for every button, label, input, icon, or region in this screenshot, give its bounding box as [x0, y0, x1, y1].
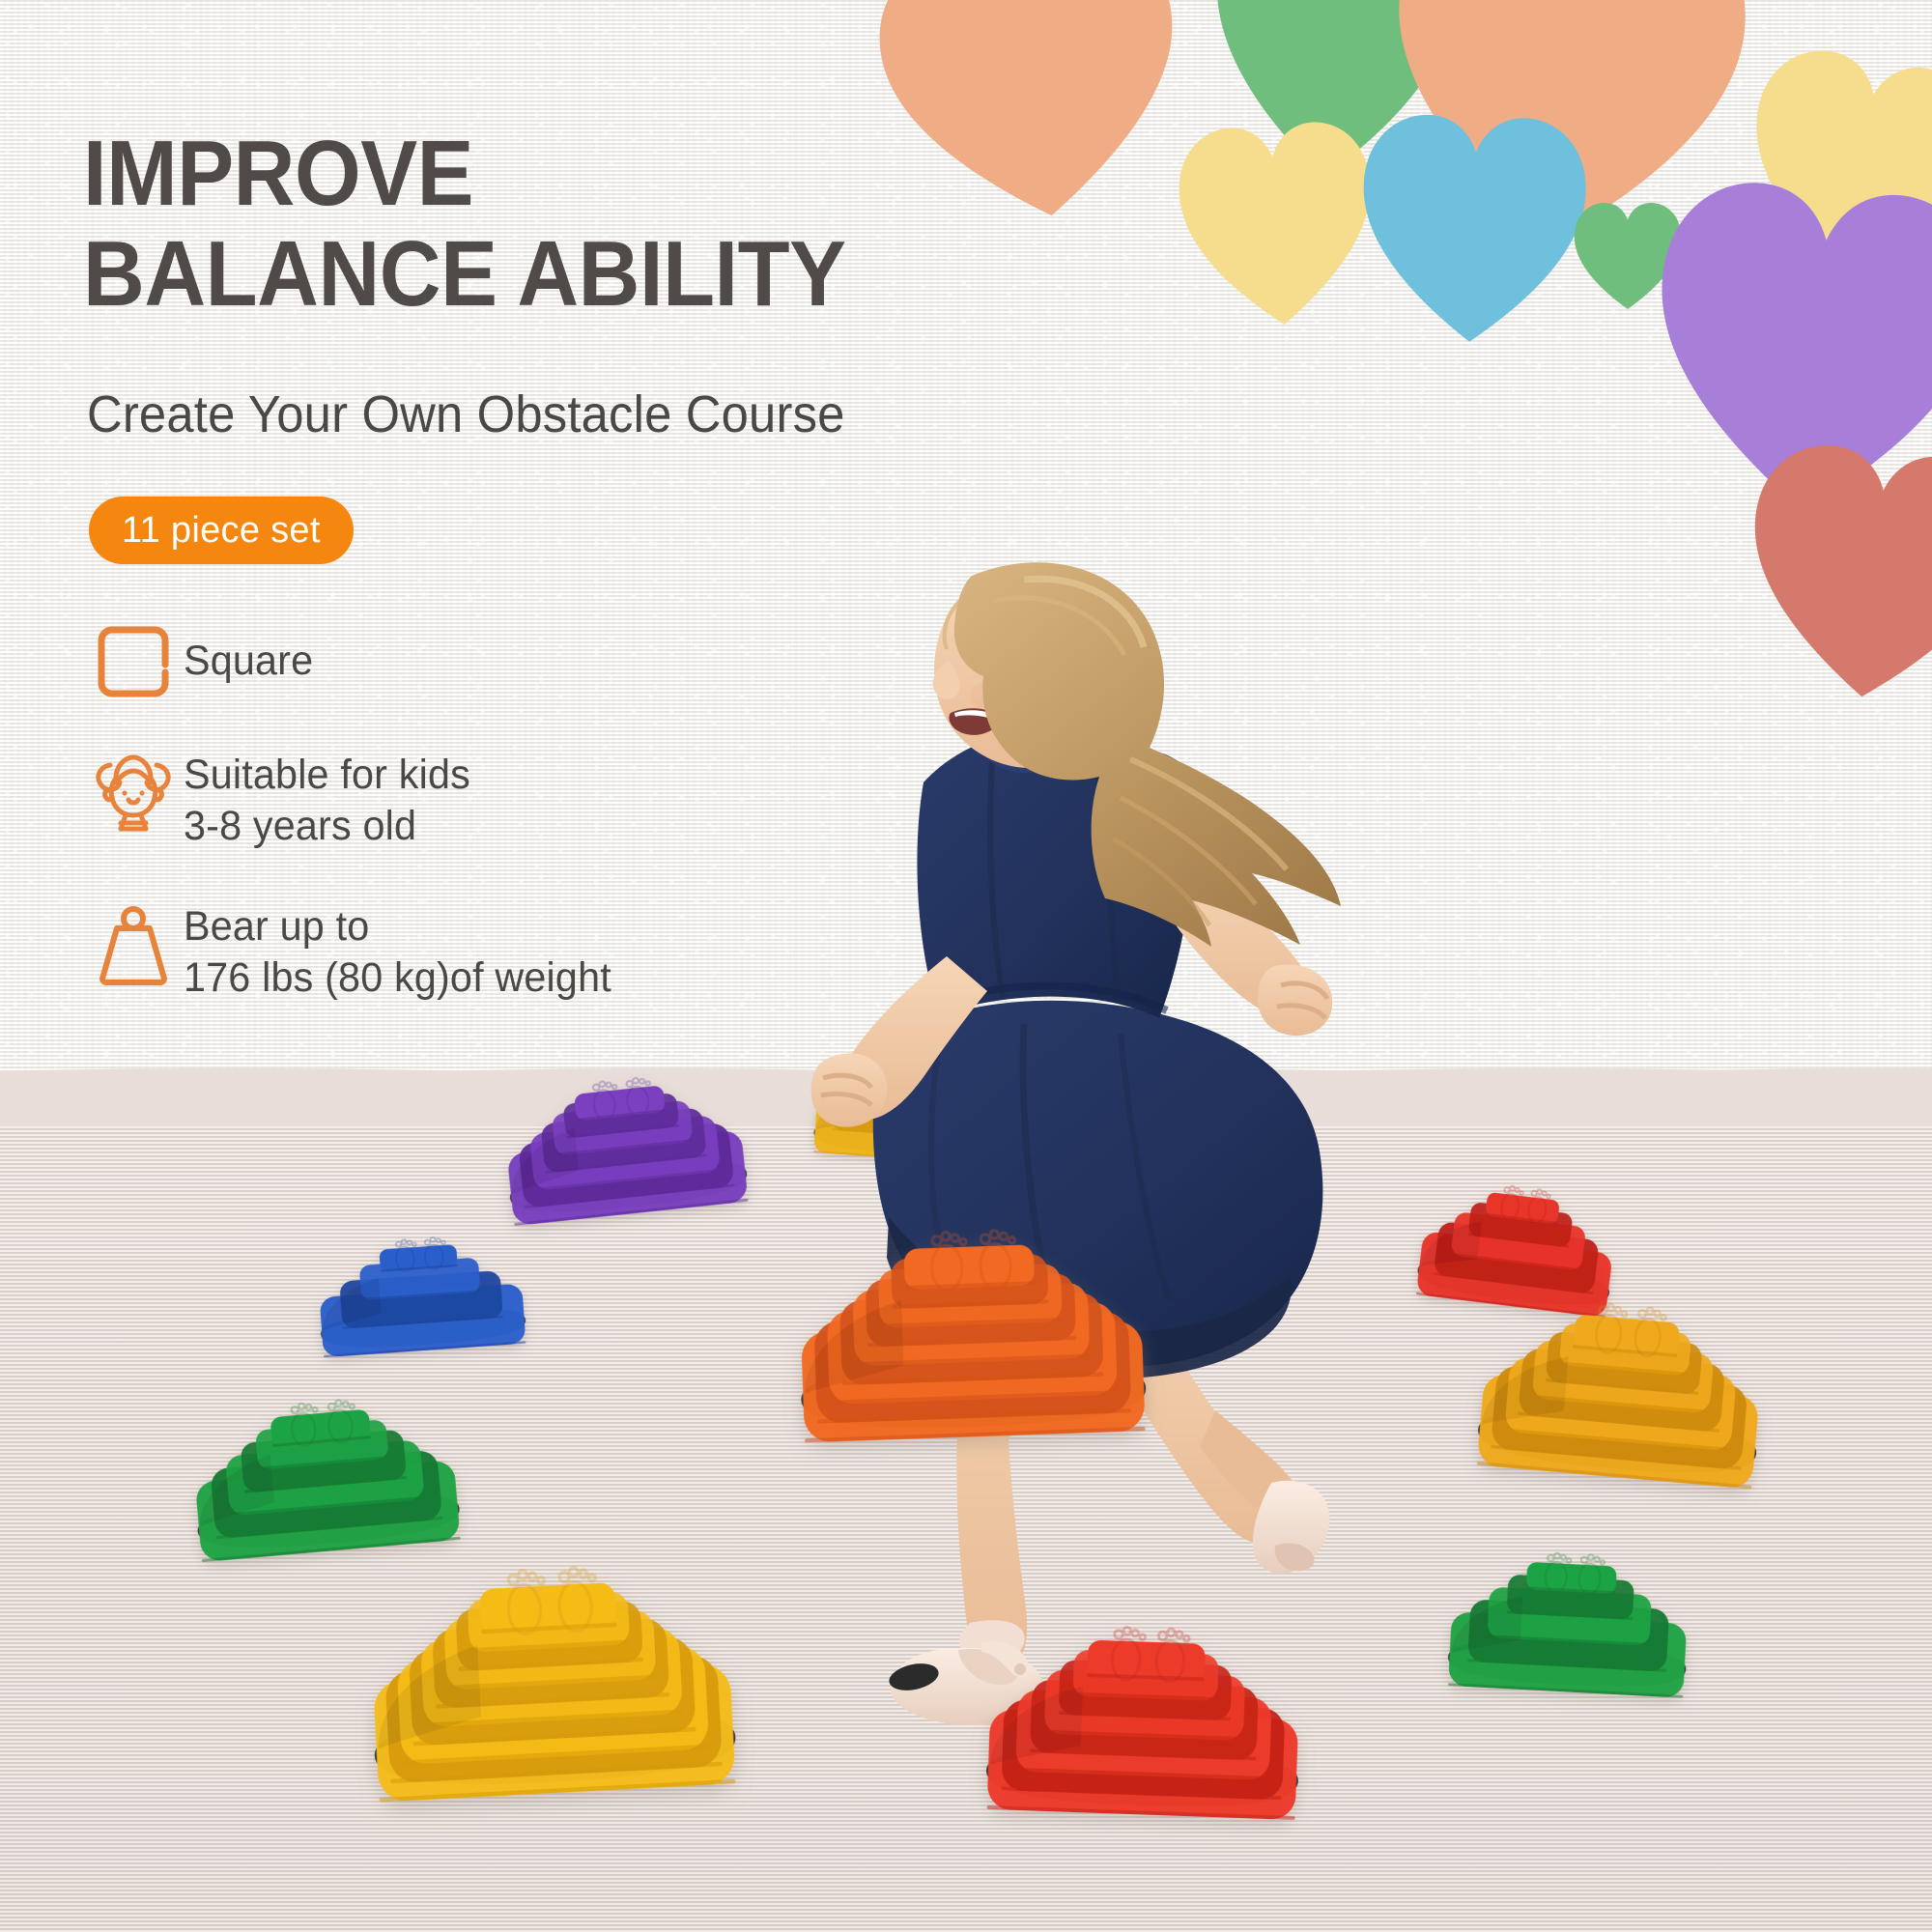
hand-right	[1258, 964, 1332, 1036]
feature-label-capacity: Bear up to 176 lbs (80 kg)of weight	[184, 897, 611, 1005]
heart-peach-large	[854, 0, 1212, 262]
stone-orange-center	[763, 1177, 1178, 1456]
subtitle: Create Your Own Obstacle Course	[87, 384, 845, 444]
page-title: IMPROVE BALANCE ABILITY	[83, 124, 846, 324]
feature-label-age: Suitable for kids 3-8 years old	[184, 746, 470, 853]
product-marketing-poster: IMPROVE BALANCE ABILITY Create Your Own …	[0, 0, 1932, 1932]
feature-item-capacity: Bear up to 176 lbs (80 kg)of weight	[83, 897, 914, 1005]
stone-blue-left	[295, 1204, 546, 1365]
badge-label: 11 piece set	[122, 510, 321, 552]
rounded-square-icon	[83, 618, 184, 701]
feature-item-shape: Square	[83, 618, 914, 701]
stone-green-right	[1425, 1515, 1714, 1708]
heart-terracotta	[1725, 426, 1932, 733]
girl-face-icon	[83, 746, 184, 835]
weight-icon	[83, 897, 184, 988]
feature-list: Square	[83, 618, 914, 1048]
hand-fist-left	[811, 1053, 888, 1126]
heart-blue	[1348, 102, 1598, 367]
stone-yellow-big	[330, 1506, 770, 1818]
stone-yellow-right	[1450, 1252, 1797, 1502]
stone-red-bottom	[957, 1577, 1332, 1832]
status-badge: 11 piece set	[89, 497, 354, 564]
feature-label-shape: Square	[184, 618, 313, 687]
feature-item-age: Suitable for kids 3-8 years old	[83, 746, 914, 853]
